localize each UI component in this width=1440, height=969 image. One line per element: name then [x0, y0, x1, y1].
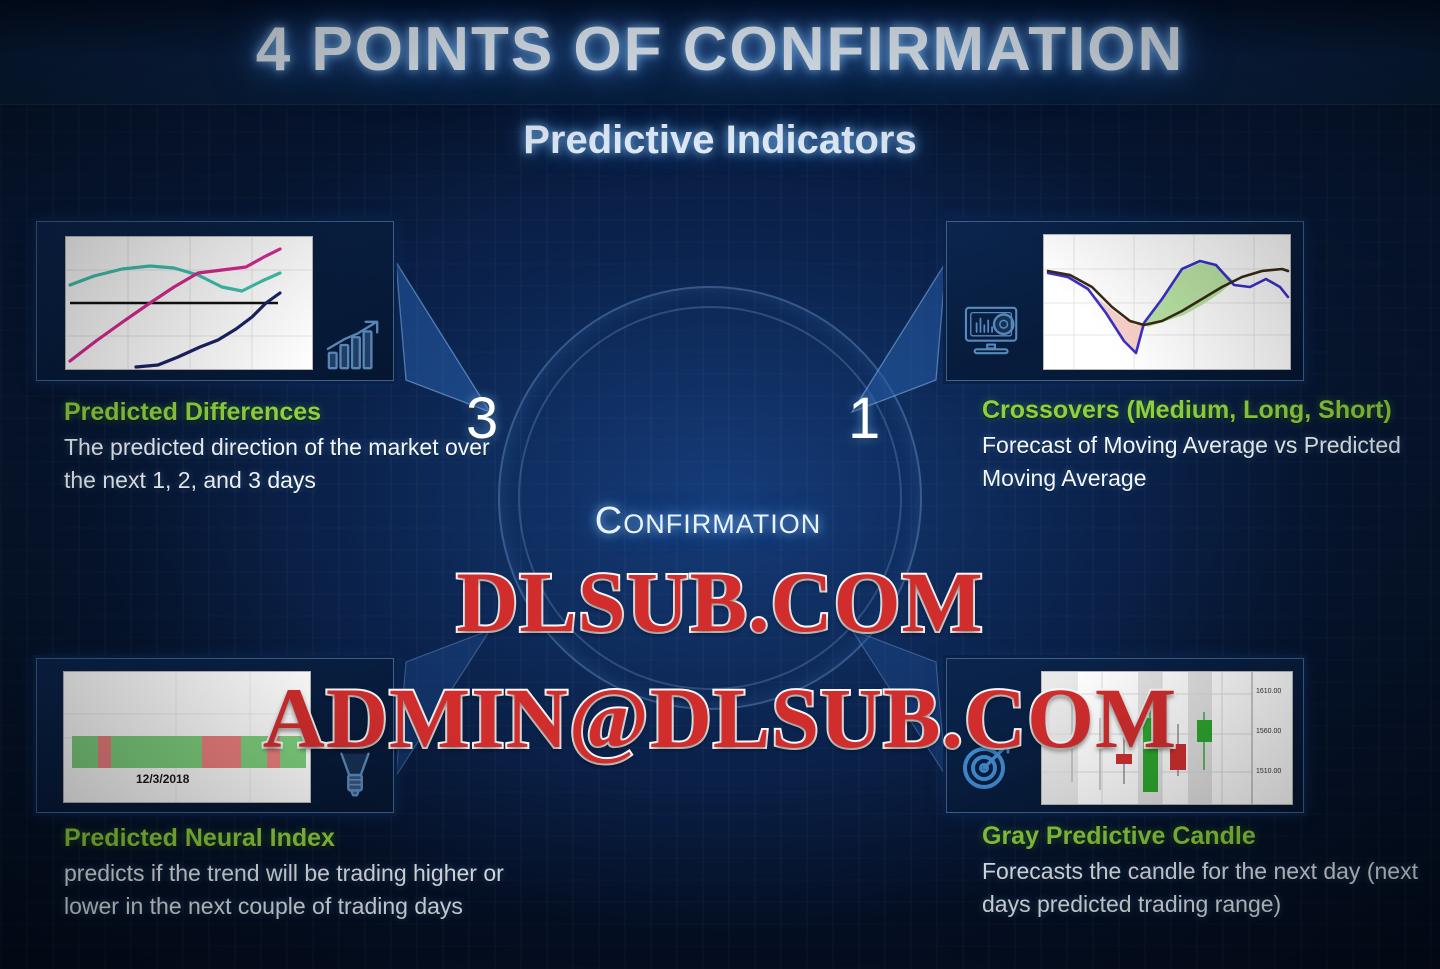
- caption-title: Crossovers (Medium, Long, Short): [982, 396, 1422, 425]
- infographic-canvas: 4 POINTS OF CONFIRMATION Predictive Indi…: [0, 0, 1440, 969]
- caption-title: Gray Predictive Candle: [982, 822, 1422, 851]
- caption-predicted-differences: Predicted Differences The predicted dire…: [64, 398, 504, 497]
- page-title: 4 POINTS OF CONFIRMATION: [0, 14, 1440, 85]
- chart-crossovers: [1043, 234, 1291, 370]
- panel-crossovers[interactable]: [946, 221, 1304, 381]
- price-tick-3: 1510.00: [1256, 768, 1281, 775]
- caption-title: Predicted Differences: [64, 398, 504, 427]
- chart-date-label: 12/3/2018: [136, 772, 189, 786]
- inner-ring: [518, 306, 902, 690]
- target-arrow-icon: [959, 738, 1015, 794]
- price-tick-1: 1610.00: [1256, 688, 1281, 695]
- panel-gray-predictive-candle[interactable]: 1610.00 1560.00 1510.00: [946, 658, 1304, 813]
- caption-gray-predictive-candle: Gray Predictive Candle Forecasts the can…: [982, 822, 1422, 921]
- step-number-1: 1: [848, 390, 880, 448]
- chart-predicted-neural-index: 12/3/2018: [63, 671, 311, 803]
- lightbulb-icon: [329, 746, 381, 804]
- caption-crossovers: Crossovers (Medium, Long, Short) Forecas…: [982, 396, 1422, 495]
- monitor-analytics-icon: [961, 302, 1027, 360]
- connector-wedge-bottom-right: [818, 600, 950, 780]
- caption-title: Predicted Neural Index: [64, 824, 504, 853]
- caption-body: Forecast of Moving Average vs Predicted …: [982, 429, 1422, 495]
- connector-wedge-bottom-left: [392, 600, 522, 780]
- watermark-site: DLSUB.COM: [0, 552, 1440, 652]
- bar-chart-growth-icon: [323, 316, 385, 374]
- caption-predicted-neural-index: Predicted Neural Index predicts if the t…: [64, 824, 504, 923]
- caption-body: The predicted direction of the market ov…: [64, 431, 504, 497]
- caption-body: Forecasts the candle for the next day (n…: [982, 855, 1422, 921]
- outer-ring: [498, 286, 922, 710]
- panel-predicted-neural-index[interactable]: 12/3/2018: [36, 658, 394, 813]
- price-tick-2: 1560.00: [1256, 728, 1281, 735]
- chart-predicted-differences: [65, 236, 313, 370]
- page-subtitle: Predictive Indicators: [0, 118, 1440, 163]
- panel-predicted-differences[interactable]: [36, 221, 394, 381]
- connector-wedge-top-right: [818, 262, 950, 447]
- chart-gray-predictive-candle: 1610.00 1560.00 1510.00: [1041, 671, 1293, 805]
- center-label: Confirmation: [498, 500, 918, 543]
- caption-body: predicts if the trend will be trading hi…: [64, 857, 504, 923]
